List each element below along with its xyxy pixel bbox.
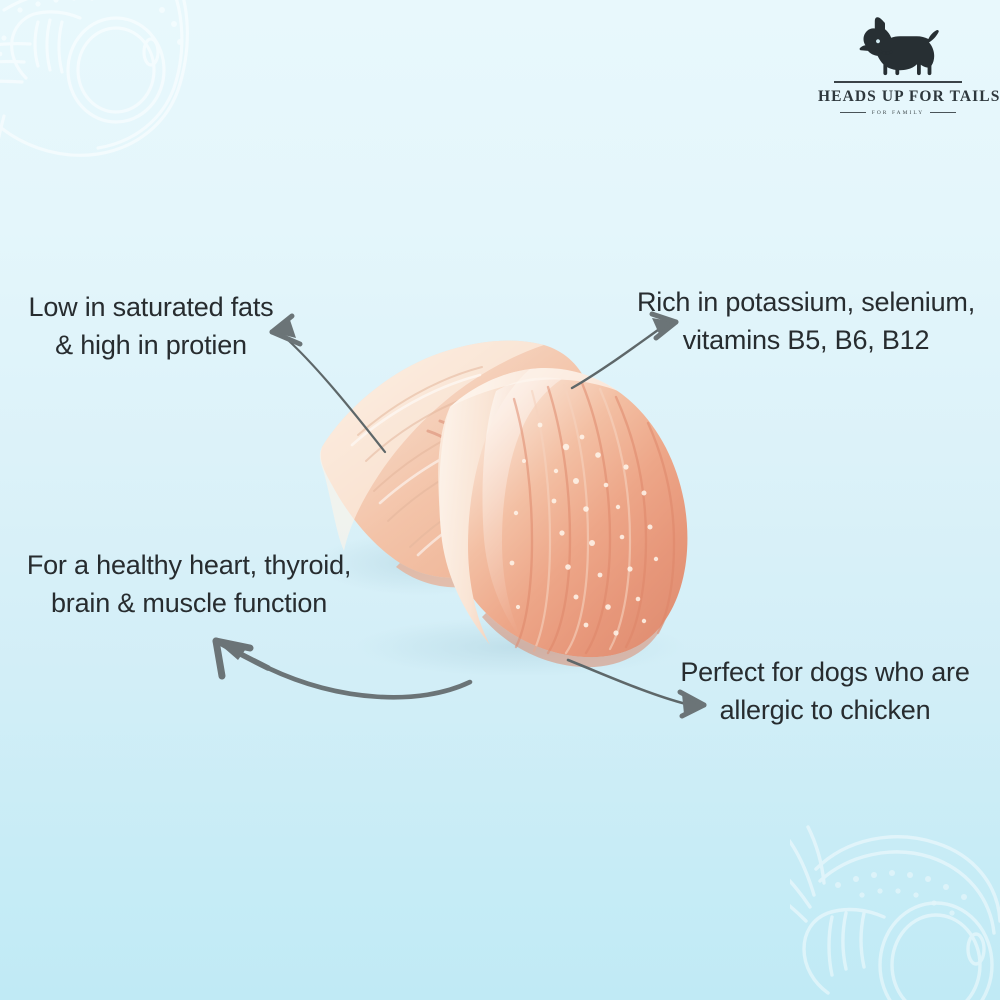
infographic-canvas: HEADS UP FOR TAILS FOR FAMILY: [0, 0, 1000, 1000]
annotation-low-saturated-fats: Low in saturated fats & high in protien: [12, 288, 290, 365]
dog-silhouette-icon: [818, 14, 978, 78]
logo-tagline: FOR FAMILY: [872, 110, 925, 116]
annotation-healthy-heart: For a healthy heart, thyroid, brain & mu…: [10, 546, 368, 623]
fish-line-art-icon-bottom-right: [790, 825, 1000, 1000]
brand-logo[interactable]: HEADS UP FOR TAILS FOR FAMILY: [818, 14, 978, 116]
annotation-allergic-to-chicken: Perfect for dogs who are allergic to chi…: [660, 653, 990, 730]
logo-divider-top: [834, 81, 962, 83]
logo-tagline-rule-right: [930, 112, 956, 113]
annotation-rich-in-nutrients: Rich in potassium, selenium, vitamins B5…: [636, 283, 976, 360]
fish-line-art-icon-top-left: [0, 0, 198, 182]
logo-brand-name: HEADS UP FOR TAILS: [818, 88, 978, 106]
logo-tagline-rule-left: [840, 112, 866, 113]
logo-tagline-row: FOR FAMILY: [818, 110, 978, 116]
